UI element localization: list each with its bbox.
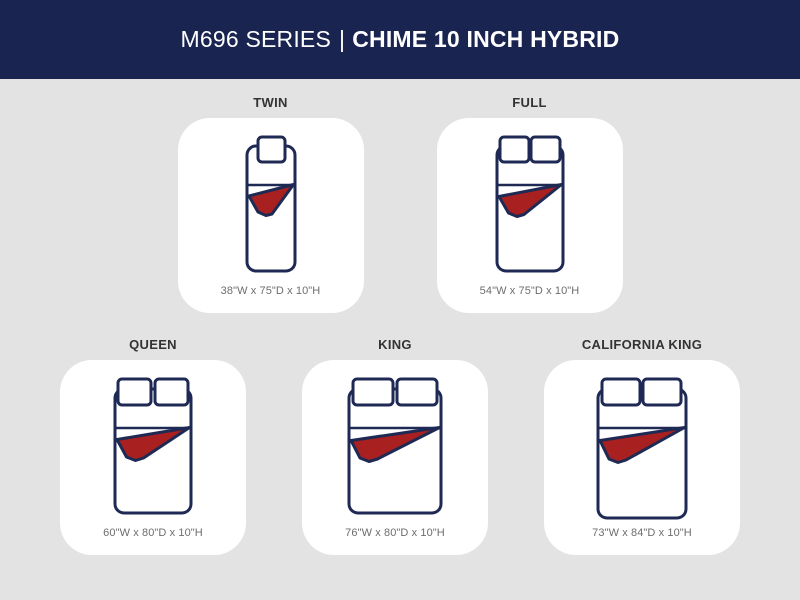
size-chart-page: M696 SERIES | CHIME 10 INCH HYBRID TWIN	[0, 0, 800, 600]
title-separator: |	[331, 26, 352, 53]
size-label-king: KING	[378, 337, 412, 352]
model-label: CHIME 10 INCH HYBRID	[352, 26, 619, 53]
bed-king-icon	[327, 376, 463, 518]
bed-twin-icon	[216, 134, 326, 274]
size-dimensions-full: 54"W x 75"D x 10"H	[480, 285, 580, 297]
size-card-california-king[interactable]: 73"W x 84"D x 10"H	[544, 360, 740, 555]
size-block-twin[interactable]: TWIN 38"W x 75"D x 10"H	[178, 95, 364, 313]
size-card-twin[interactable]: 38"W x 75"D x 10"H	[178, 118, 364, 313]
size-label-california-king: CALIFORNIA KING	[582, 337, 702, 352]
size-block-queen[interactable]: QUEEN 60"W x 80"D x 10"H	[60, 337, 246, 555]
size-dimensions-king: 76"W x 80"D x 10"H	[345, 527, 445, 539]
size-label-queen: QUEEN	[129, 337, 177, 352]
series-label: M696 SERIES	[181, 26, 332, 53]
bed-queen-icon	[89, 376, 217, 518]
bed-full-icon	[470, 134, 590, 274]
size-card-full[interactable]: 54"W x 75"D x 10"H	[437, 118, 623, 313]
bed-california-king-icon	[574, 376, 710, 522]
size-dimensions-twin: 38"W x 75"D x 10"H	[221, 285, 321, 297]
size-label-full: FULL	[512, 95, 546, 110]
size-label-twin: TWIN	[253, 95, 287, 110]
size-row-top: TWIN 38"W x 75"D x 10"H	[0, 95, 800, 313]
size-block-king[interactable]: KING 76"W x 80"D x 10"H	[302, 337, 488, 555]
size-card-queen[interactable]: 60"W x 80"D x 10"H	[60, 360, 246, 555]
size-dimensions-california-king: 73"W x 84"D x 10"H	[592, 527, 692, 539]
size-block-california-king[interactable]: CALIFORNIA KING 73"W x 84"D x 10"H	[544, 337, 740, 555]
page-title: M696 SERIES | CHIME 10 INCH HYBRID	[181, 26, 620, 53]
size-row-bottom: QUEEN 60"W x 80"D x 10"H KING	[0, 337, 800, 555]
page-header: M696 SERIES | CHIME 10 INCH HYBRID	[0, 0, 800, 79]
size-dimensions-queen: 60"W x 80"D x 10"H	[103, 527, 203, 539]
size-block-full[interactable]: FULL 54"W x 75"D x 10"H	[437, 95, 623, 313]
size-card-king[interactable]: 76"W x 80"D x 10"H	[302, 360, 488, 555]
size-grid: TWIN 38"W x 75"D x 10"H	[0, 79, 800, 600]
